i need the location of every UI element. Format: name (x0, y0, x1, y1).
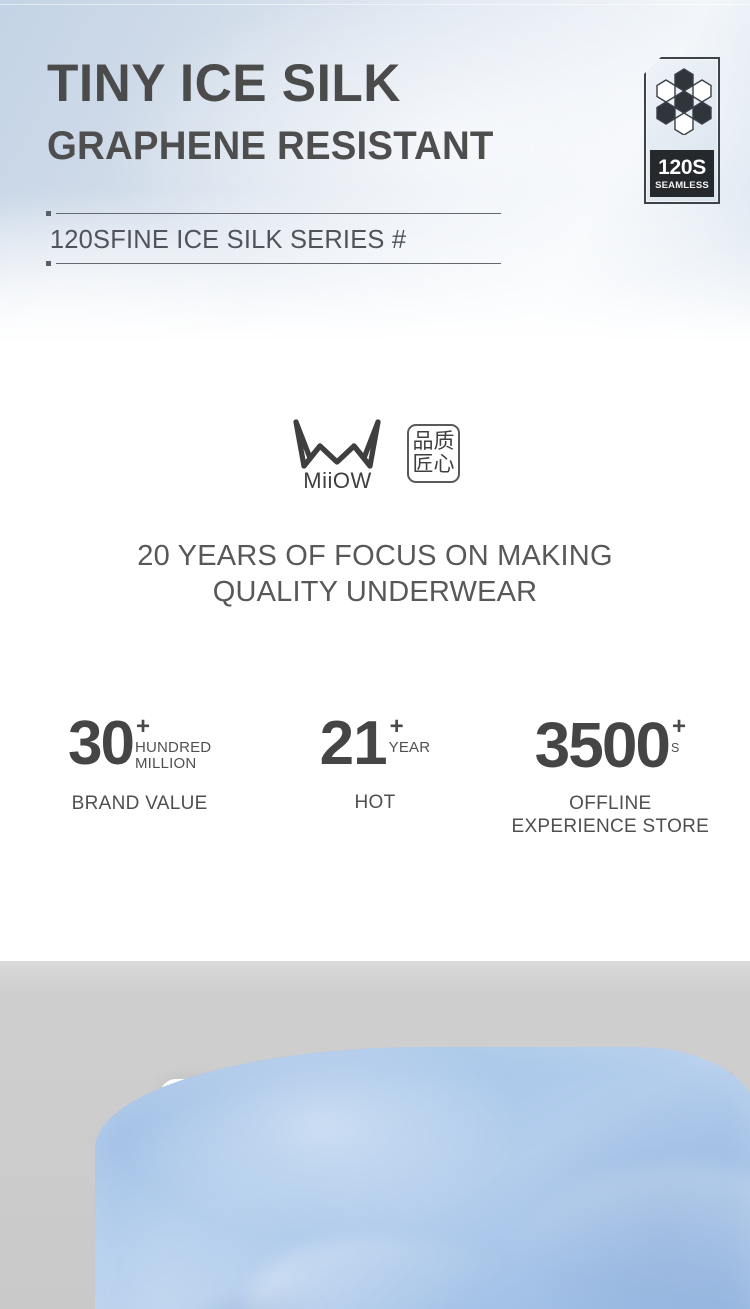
product-photo (0, 961, 750, 1309)
divider-dot-icon (46, 211, 51, 216)
stat-number: 3500 (535, 717, 669, 773)
divider-top (46, 210, 501, 218)
series-name: 120SFINE ICE SILK SERIES # (46, 218, 492, 260)
page-title: TINY ICE SILK (47, 57, 401, 110)
quality-seal-line2: 匠心 (413, 453, 455, 476)
miiow-logo: MiiOW (290, 414, 385, 492)
divider-bottom (46, 260, 501, 268)
stat-superscript: + HUNDRED MILLION (135, 717, 211, 773)
hero-banner: TINY ICE SILK GRAPHENE RESISTANT 120SFIN… (0, 0, 750, 342)
quality-seal: 品质 匠心 (407, 424, 460, 483)
photo-blue-fabric (95, 1047, 750, 1309)
honeycomb-icon (653, 67, 715, 135)
stat-hot-years: 21 + YEAR HOT (257, 717, 492, 814)
brand-stats: 30 + HUNDRED MILLION BRAND VALUE 21 + YE… (0, 717, 750, 839)
quality-seal-line1: 品质 (413, 430, 455, 453)
stat-brand-value: 30 + HUNDRED MILLION BRAND VALUE (22, 717, 257, 816)
stat-plus-sign: + (135, 719, 150, 736)
stat-offline-stores: 3500 + S OFFLINE EXPERIENCE STORE (493, 717, 728, 839)
brand-section: MiiOW 品质 匠心 20 YEARS OF FOCUS ON MAKING … (0, 342, 750, 961)
page-subtitle: GRAPHENE RESISTANT (47, 126, 494, 166)
brand-tagline: 20 YEARS OF FOCUS ON MAKING QUALITY UNDE… (0, 538, 750, 611)
stat-superscript: + S (671, 717, 686, 756)
stat-plus-sign: + (389, 719, 404, 736)
stat-figure: 3500 + S (493, 717, 728, 773)
stat-figure: 30 + HUNDRED MILLION (22, 717, 257, 773)
tagline-line-2: QUALITY UNDERWEAR (0, 574, 750, 610)
series-label-block: 120SFINE ICE SILK SERIES # (46, 210, 501, 268)
photo-fabric-highlight-2 (500, 1142, 750, 1309)
hero-top-hairline (0, 4, 750, 5)
stat-unit: S (671, 742, 680, 756)
stat-number: 30 (68, 717, 133, 772)
stat-label: OFFLINE EXPERIENCE STORE (493, 793, 728, 839)
brand-logo-row: MiiOW 品质 匠心 (0, 414, 750, 492)
badge-code-tag: 120S SEAMLESS (650, 150, 714, 197)
cat-face-icon: MiiOW (290, 414, 385, 492)
hero-sheen-overlay (0, 0, 750, 342)
seamless-badge: 120S SEAMLESS (644, 57, 720, 204)
divider-line (56, 213, 501, 214)
stat-number: 21 (320, 717, 387, 772)
stat-unit: HUNDRED MILLION (135, 740, 211, 773)
stat-superscript: + YEAR (389, 717, 431, 756)
badge-caption-text: SEAMLESS (655, 181, 709, 191)
stat-plus-sign: + (671, 719, 686, 736)
stat-figure: 21 + YEAR (257, 717, 492, 772)
tagline-line-1: 20 YEARS OF FOCUS ON MAKING (0, 538, 750, 574)
photo-fabric-highlight-1 (229, 1203, 561, 1309)
photo-top-gradient (0, 961, 750, 991)
product-detail-page: TINY ICE SILK GRAPHENE RESISTANT 120SFIN… (0, 0, 750, 1309)
stat-unit: YEAR (389, 740, 431, 757)
divider-dot-icon (46, 261, 51, 266)
svg-text:MiiOW: MiiOW (303, 468, 371, 492)
divider-line (56, 263, 501, 264)
stat-label: BRAND VALUE (22, 793, 257, 816)
stat-label: HOT (257, 792, 492, 815)
badge-code-text: 120S (658, 157, 706, 178)
